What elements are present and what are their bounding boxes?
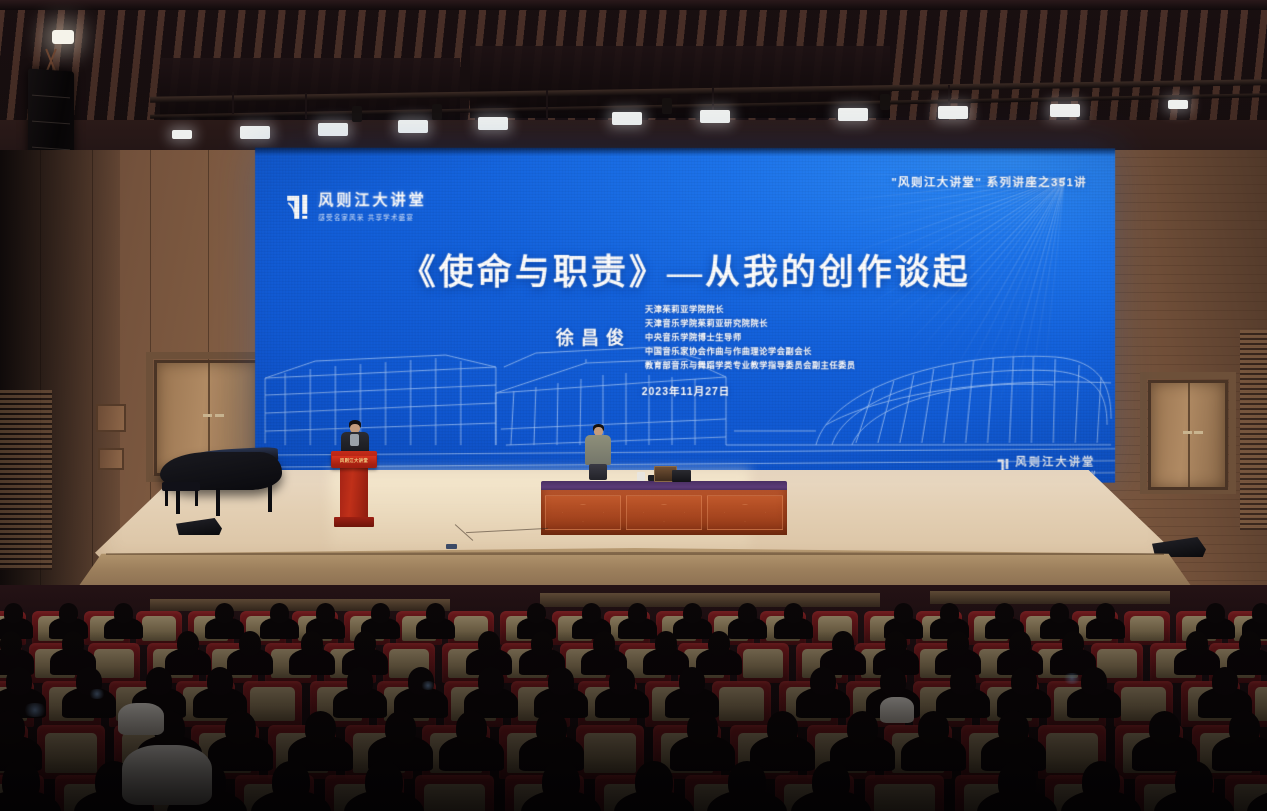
led-display-screen: 风则江大讲堂 感受名家风采 共享学术盛宴 "风则江大讲堂" 系列讲座之351讲 … — [255, 148, 1115, 484]
audience-head — [4, 603, 23, 623]
audience-head — [998, 711, 1029, 744]
audience-head — [354, 631, 376, 655]
cable-tape — [446, 544, 457, 549]
seat-back — [45, 733, 97, 773]
theater-seat — [712, 681, 771, 727]
audience-head — [548, 667, 574, 695]
stage-light-fixture — [838, 108, 868, 121]
spotlight-head — [662, 98, 672, 114]
audience-head — [832, 631, 854, 655]
audience-head — [1206, 603, 1225, 623]
audience-light-clothing — [880, 697, 914, 723]
speaker-credentials: 天津茱莉亚学院院长天津音乐学院茱莉亚研究院院长中央音乐学院博士生导师中国音乐家协… — [645, 303, 856, 371]
stage-light-fixture — [240, 126, 270, 139]
truss-rod — [232, 92, 234, 114]
truss-rod — [712, 88, 714, 112]
audience-head — [207, 667, 233, 695]
acoustic-grille — [0, 390, 52, 570]
audience-head — [531, 631, 553, 655]
audience-head — [1062, 631, 1084, 655]
audience-head — [347, 667, 373, 695]
theater-seat — [1124, 611, 1170, 645]
audience-head — [225, 711, 256, 744]
ceiling-beam — [0, 0, 1267, 10]
audience-head — [683, 603, 702, 623]
stage-light-fixture — [612, 112, 642, 125]
wall-switch-panel — [96, 404, 126, 432]
phone-screen-glow — [420, 681, 436, 690]
audience-head — [527, 603, 546, 623]
screen-logo: 风则江大讲堂 感受名家风采 共享学术盛宴 — [285, 193, 426, 222]
speaker-credential-line: 中国音乐家协会作曲与作曲理论学会副会长 — [645, 345, 856, 357]
audience-head — [371, 603, 390, 623]
theater-seat — [415, 775, 494, 811]
stage-light-fixture — [938, 106, 968, 119]
speaker-credential-line: 天津音乐学院茱莉亚研究院院长 — [645, 317, 856, 329]
podium-top: 风则江大讲堂 — [331, 451, 377, 468]
audience-head — [0, 711, 25, 744]
audience-head — [1149, 711, 1180, 744]
front-row-table — [930, 591, 1170, 604]
audience-head — [1252, 603, 1267, 623]
audience-white-jacket — [122, 745, 212, 805]
audience-head — [305, 711, 336, 744]
screen-logo-title: 风则江大讲堂 — [318, 193, 426, 209]
audience-head — [950, 667, 976, 695]
audience-head — [1050, 603, 1069, 623]
seat-back — [719, 687, 764, 721]
audience-head — [679, 667, 705, 695]
audience-head — [59, 603, 78, 623]
spotlight-head — [352, 106, 362, 122]
audience-head — [628, 603, 647, 623]
stage-light-fixture — [172, 130, 192, 139]
seat-back — [874, 784, 934, 811]
audience-head — [114, 603, 133, 623]
audience-head — [456, 711, 487, 744]
audience-head — [270, 603, 289, 623]
audience-head — [885, 631, 907, 655]
audience-head — [1229, 711, 1260, 744]
stage-light-fixture — [700, 110, 730, 123]
podium: 风则江大讲堂 — [331, 451, 377, 527]
lecture-date: 2023年11月27日 — [255, 384, 1115, 399]
seat-back — [584, 733, 636, 773]
audience-head — [995, 603, 1014, 623]
ceiling-lamp-icon — [52, 30, 74, 44]
audience-head — [0, 631, 22, 655]
audience-head — [609, 667, 635, 695]
audience-head — [812, 761, 850, 801]
seat-back — [743, 649, 783, 679]
acoustic-grille — [1240, 330, 1267, 530]
stage-light-fixture — [398, 120, 428, 133]
podium-base — [334, 517, 374, 527]
audience-head — [1011, 667, 1037, 695]
podium-column — [340, 468, 368, 520]
audience-head — [542, 761, 580, 801]
audience-head — [738, 603, 757, 623]
audience-head — [478, 667, 504, 695]
speaker-credential-line: 教育部音乐与舞蹈学类专业教学指导委员会副主任委员 — [645, 359, 856, 371]
theater-seat — [737, 643, 789, 683]
audience-head — [239, 631, 261, 655]
audience-head — [215, 603, 234, 623]
wall-switch-panel — [98, 448, 124, 470]
fengzejiang-logo-icon — [285, 193, 311, 221]
phone-screen-glow — [22, 703, 48, 717]
speaker-credential-line: 天津茱莉亚学院院长 — [645, 303, 856, 315]
audience-head — [847, 711, 878, 744]
audience-head — [272, 761, 310, 801]
audience-head — [810, 667, 836, 695]
audience-head — [1212, 667, 1238, 695]
audience-head — [478, 631, 500, 655]
auditorium-photo: 风则江大讲堂 感受名家风采 共享学术盛宴 "风则江大讲堂" 系列讲座之351讲 … — [0, 0, 1267, 811]
audience-head — [365, 761, 403, 801]
seat-back — [1130, 616, 1165, 641]
truss-rod — [546, 90, 548, 118]
audience-head — [1239, 631, 1261, 655]
audience-head — [1009, 631, 1031, 655]
audience-head — [316, 603, 335, 623]
speaker-name: 徐昌俊 — [556, 324, 631, 350]
audience-head — [880, 667, 906, 695]
audience-head — [582, 603, 601, 623]
audience-area — [0, 585, 1267, 811]
right-door[interactable] — [1148, 380, 1228, 490]
audience-head — [536, 711, 567, 744]
phone-screen-glow — [88, 689, 106, 699]
stage-light-fixture — [1050, 104, 1080, 117]
audience-head — [177, 631, 199, 655]
speaker-info-block: 徐昌俊 天津茱莉亚学院院长天津音乐学院茱莉亚研究院院长中央音乐学院博士生导师中国… — [556, 303, 856, 371]
audience-white-hat — [118, 703, 164, 735]
piano-bench-leg — [165, 490, 168, 506]
theater-seat — [576, 725, 644, 779]
audience-head — [1186, 631, 1208, 655]
audience-head — [940, 603, 959, 623]
audience-head — [894, 603, 913, 623]
audience-head — [767, 711, 798, 744]
audience-head — [6, 667, 32, 695]
phone-screen-glow — [1062, 673, 1082, 684]
speaker-credential-line: 中央音乐学院博士生导师 — [645, 331, 856, 343]
audience-head — [1175, 761, 1213, 801]
stage-light-fixture — [1168, 100, 1188, 109]
long-table — [541, 490, 787, 535]
piano-bench-leg — [195, 490, 198, 506]
audience-head — [62, 631, 84, 655]
seat-back — [142, 616, 177, 641]
truss-rod — [305, 93, 307, 119]
stage-light-fixture — [318, 123, 348, 136]
piano-leg — [216, 488, 220, 516]
audience-head — [593, 631, 615, 655]
audience-head — [1082, 761, 1120, 801]
seat-back — [250, 687, 295, 721]
lecture-title: 《使命与职责》—从我的创作谈起 — [255, 244, 1115, 295]
host-person — [585, 424, 611, 482]
spotlight-head — [880, 94, 890, 110]
audience-head — [385, 711, 416, 744]
theater-seat — [37, 725, 105, 779]
lecture-series-label: "风则江大讲堂" 系列讲座之351讲 — [891, 174, 1087, 190]
audience-head — [708, 631, 730, 655]
stage-light-fixture — [478, 117, 508, 130]
audience-head — [655, 631, 677, 655]
podium-label: 风则江大讲堂 — [335, 457, 373, 464]
watermark-title: 风则江大讲堂 — [1016, 454, 1098, 470]
audience-head — [301, 631, 323, 655]
audience-head — [918, 711, 949, 744]
audience-head — [146, 667, 172, 695]
theater-seat — [865, 775, 944, 811]
table-laptop — [672, 470, 691, 482]
audience-head — [1096, 603, 1115, 623]
audience-head — [998, 761, 1036, 801]
audience-head — [426, 603, 445, 623]
spotlight-head — [432, 104, 442, 120]
audience-head — [2, 761, 40, 801]
front-row-table — [150, 599, 450, 611]
audience-head — [1081, 667, 1107, 695]
audience-head — [728, 761, 766, 801]
seat-back — [1255, 687, 1267, 721]
screen-logo-subtitle: 感受名家风采 共享学术盛宴 — [318, 212, 426, 222]
piano-leg — [268, 484, 272, 512]
audience-head — [635, 761, 673, 801]
table-cup — [637, 472, 645, 481]
audience-head — [947, 631, 969, 655]
audience-head — [687, 711, 718, 744]
seat-back — [424, 784, 484, 811]
audience-head — [784, 603, 803, 623]
